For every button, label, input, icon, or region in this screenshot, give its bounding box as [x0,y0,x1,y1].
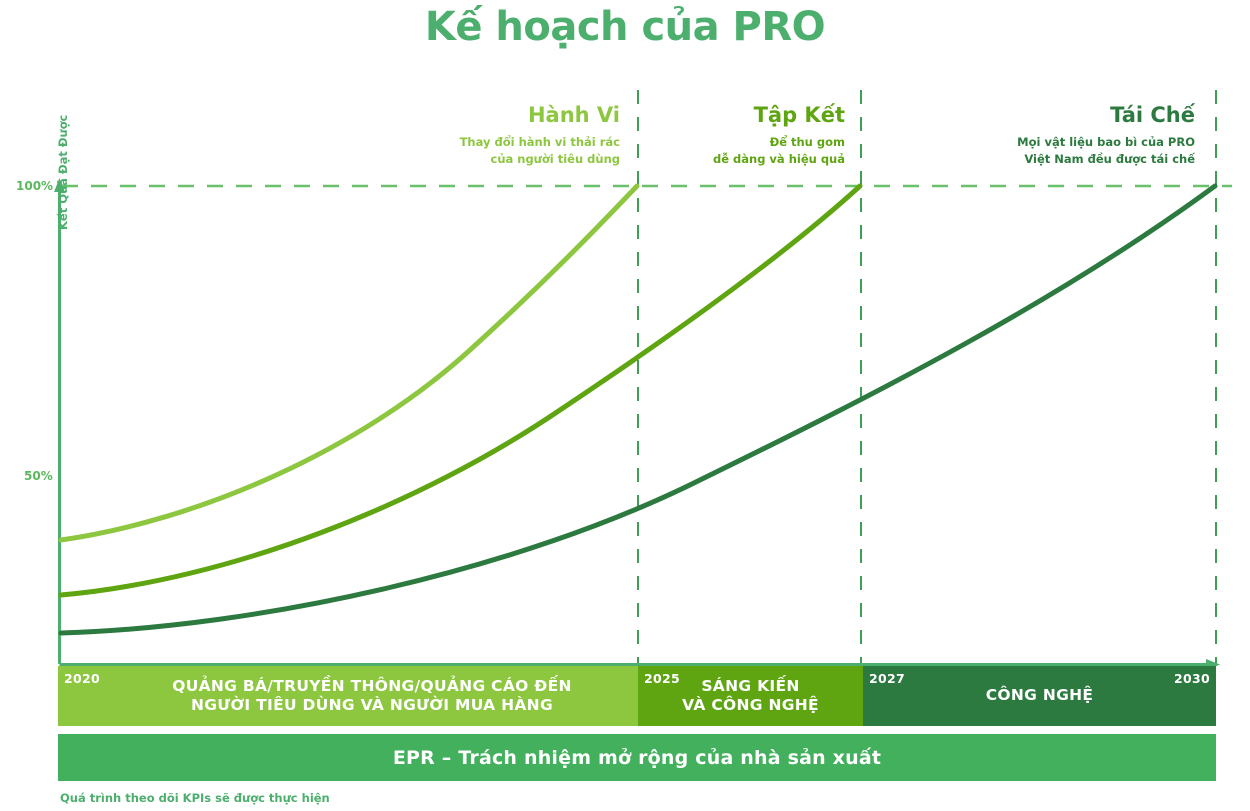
y-tick-50: 50% [24,469,53,483]
y-tick-100: 100% [16,179,53,193]
epr-bar-label: EPR – Trách nhiệm mở rộng của nhà sản xu… [393,747,881,769]
band-sang-kien: 2025 SÁNG KIẾN VÀ CÔNG NGHỆ [638,666,863,726]
band-line1: QUẢNG BÁ/TRUYỀN THÔNG/QUẢNG CÁO ĐẾN [172,677,572,695]
year-label-2030: 2030 [1174,671,1210,687]
curve-tap-ket [61,186,860,595]
footnote: Quá trình theo dõi KPIs sẽ được thực hiệ… [60,791,330,805]
curve-hanh-vi [61,186,637,540]
year-label-2020: 2020 [64,671,100,687]
band-line1: CÔNG NGHỆ [986,686,1094,704]
infographic-page: Kế hoạch của PRO Hành Vi Thay đổi hành v… [0,0,1250,811]
year-label-2027: 2027 [869,671,905,687]
band-line2: NGƯỜI TIÊU DÙNG VÀ NGƯỜI MUA HÀNG [191,696,553,714]
band-line1: SÁNG KIẾN [701,677,799,695]
epr-bar: EPR – Trách nhiệm mở rộng của nhà sản xu… [58,734,1216,781]
band-line2: VÀ CÔNG NGHỆ [682,696,819,714]
band-text: QUẢNG BÁ/TRUYỀN THÔNG/QUẢNG CÁO ĐẾN NGƯỜ… [124,677,572,716]
band-text: SÁNG KIẾN VÀ CÔNG NGHỆ [682,677,819,716]
phase-bands-row: 2020 QUẢNG BÁ/TRUYỀN THÔNG/QUẢNG CÁO ĐẾN… [58,666,1216,726]
year-label-2025: 2025 [644,671,680,687]
band-text: CÔNG NGHỆ [986,686,1094,705]
band-quang-ba: 2020 QUẢNG BÁ/TRUYỀN THÔNG/QUẢNG CÁO ĐẾN… [58,666,638,726]
y-axis-label: Kết Quả Đạt Được [56,115,70,230]
band-cong-nghe: 2027 2030 CÔNG NGHỆ [863,666,1216,726]
